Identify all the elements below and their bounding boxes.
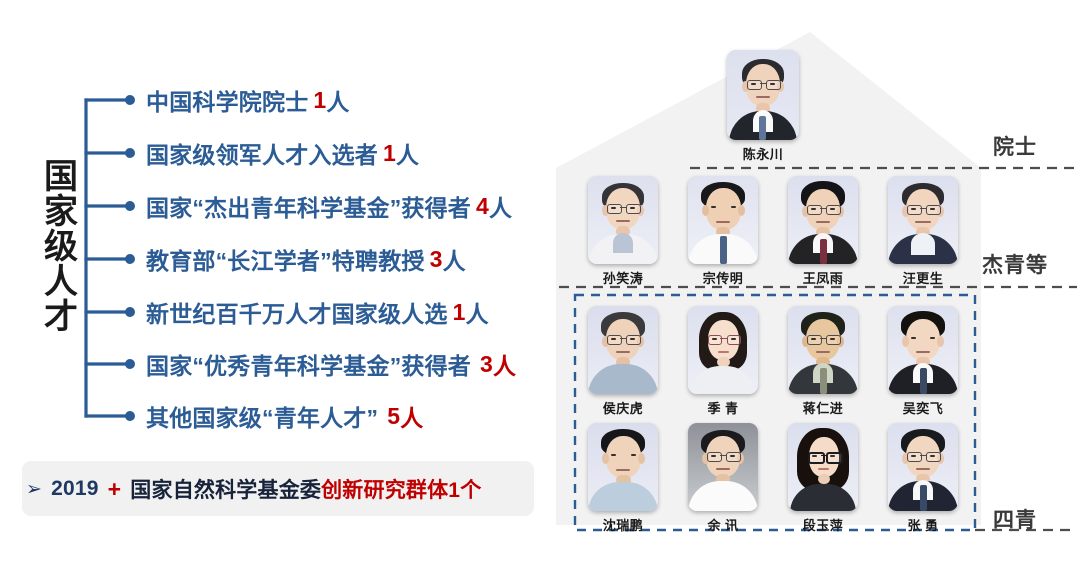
person-card-wangfengyu[interactable]: 王凤雨: [786, 176, 860, 287]
person-card-yuxun[interactable]: 余 讯: [686, 423, 760, 534]
person-card-duanyuping[interactable]: 段玉萍: [786, 423, 860, 534]
talent-label-6: 其他国家级“青年人才”: [146, 399, 378, 433]
person-name: 季 青: [686, 398, 760, 417]
talent-unit-3: 人: [443, 242, 466, 276]
avatar-wangfengyu: [788, 176, 858, 264]
talent-pyramid-panel: 陈永川 孙笑涛: [545, 0, 1080, 567]
avatar-chenyongchuan: [727, 50, 799, 140]
person-name: 陈永川: [726, 144, 800, 163]
avatar-wanggengsheng: [888, 176, 958, 264]
bullet-arrow-icon: ➢: [26, 480, 42, 499]
person-card-wanggengsheng[interactable]: 汪更生: [886, 176, 960, 287]
badge-agency-text: 国家自然科学基金委: [130, 474, 321, 504]
talent-row-6: 其他国家级“青年人才”5人: [146, 399, 423, 433]
person-name: 沈瑞鹏: [586, 515, 660, 534]
person-name: 蒋仁进: [786, 398, 860, 417]
avatar-sunxiaotao: [588, 176, 658, 264]
talent-label-1: 国家级领军人才入选者: [146, 136, 378, 170]
talent-label-2: 国家“杰出青年科学基金”获得者: [146, 189, 471, 223]
avatar-zongchuanming: [688, 176, 758, 264]
category-label-yuanshi: 院士: [993, 131, 1037, 161]
plus-icon: +: [108, 476, 122, 503]
talent-unit-1: 人: [396, 136, 419, 170]
category-label-siqing: 四青: [993, 504, 1037, 534]
talent-row-5: 国家“优秀青年科学基金”获得者3人: [146, 347, 516, 381]
person-card-chenyongchuan[interactable]: 陈永川: [726, 50, 800, 163]
person-card-zhangyong[interactable]: 张 勇: [886, 423, 960, 534]
person-name: 孙笑涛: [586, 268, 660, 287]
talent-count-0: 1: [313, 87, 326, 114]
talent-row-4: 新世纪百千万人才国家级人选1人: [146, 295, 489, 329]
talent-count-2: 4: [476, 193, 489, 220]
talent-row-2: 国家“杰出青年科学基金”获得者4人: [146, 189, 512, 223]
avatar-jiqing: [688, 306, 758, 394]
national-talent-panel: 国 家 级 人 才 中国科学院院士1人 国家级领军人才入选者1: [0, 0, 545, 567]
badge-highlight-text: 创新研究群体1个: [321, 474, 481, 504]
person-name: 吴奕飞: [886, 398, 960, 417]
talent-unit-6: 人: [400, 399, 423, 433]
talent-count-5: 3: [480, 351, 493, 378]
person-name: 王凤雨: [786, 268, 860, 287]
talent-label-4: 新世纪百千万人才国家级人选: [146, 295, 448, 329]
person-name: 宗传明: [686, 268, 760, 287]
avatar-wuyifei: [888, 306, 958, 394]
avatar-houqinghu: [588, 306, 658, 394]
person-name: 张 勇: [886, 515, 960, 534]
person-card-houqinghu[interactable]: 侯庆虎: [586, 306, 660, 417]
talent-unit-4: 人: [466, 295, 489, 329]
avatar-zhangyong: [888, 423, 958, 511]
person-name: 汪更生: [886, 268, 960, 287]
badge-year: 2019: [51, 477, 99, 501]
talent-unit-5: 人: [493, 347, 516, 381]
talent-count-6: 5: [387, 403, 400, 430]
talent-label-3: 教育部“长江学者”特聘教授: [146, 242, 425, 276]
person-card-jiqing[interactable]: 季 青: [686, 306, 760, 417]
talent-unit-2: 人: [489, 189, 512, 223]
highlight-banner-content: ➢ 2019 + 国家自然科学基金委 创新研究群体1个: [22, 474, 534, 504]
tree-bracket-connector: [78, 88, 148, 428]
talent-row-3: 教育部“长江学者”特聘教授3人: [146, 242, 466, 276]
talent-row-1: 国家级领军人才入选者1人: [146, 136, 419, 170]
person-name: 余 讯: [686, 515, 760, 534]
talent-count-1: 1: [383, 140, 396, 167]
avatar-duanyuping: [788, 423, 858, 511]
category-label-jieqing: 杰青等: [982, 249, 1048, 279]
person-name: 侯庆虎: [586, 398, 660, 417]
talent-label-0: 中国科学院院士: [146, 83, 308, 117]
talent-count-4: 1: [453, 299, 466, 326]
talent-label-5: 国家“优秀青年科学基金”获得者: [146, 347, 471, 381]
person-card-shenruipeng[interactable]: 沈瑞鹏: [586, 423, 660, 534]
talent-count-3: 3: [430, 246, 443, 273]
person-card-sunxiaotao[interactable]: 孙笑涛: [586, 176, 660, 287]
talent-row-0: 中国科学院院士1人: [146, 83, 350, 117]
person-card-jiangrenjin[interactable]: 蒋仁进: [786, 306, 860, 417]
person-card-wuyifei[interactable]: 吴奕飞: [886, 306, 960, 417]
person-name: 段玉萍: [786, 515, 860, 534]
avatar-jiangrenjin: [788, 306, 858, 394]
talent-unit-0: 人: [326, 83, 349, 117]
person-card-zongchuanming[interactable]: 宗传明: [686, 176, 760, 287]
avatar-yuxun: [688, 423, 758, 511]
avatar-shenruipeng: [588, 423, 658, 511]
